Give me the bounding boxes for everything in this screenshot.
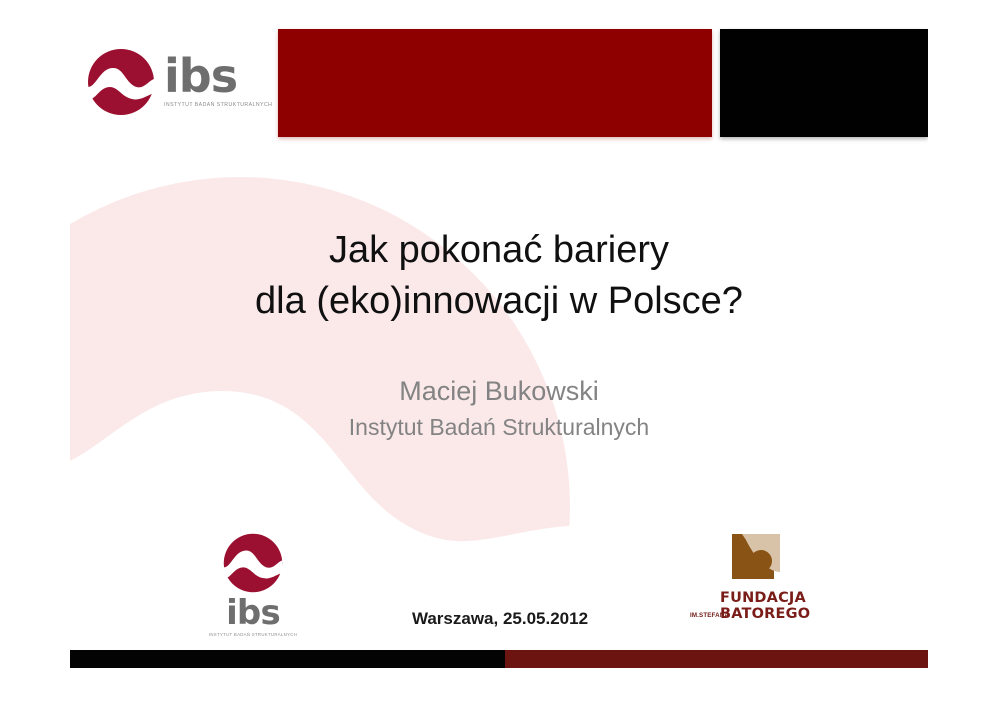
batory-mark-icon (730, 532, 782, 584)
bottom-bar-red-segment (505, 650, 928, 668)
ibs-wordmark-text: ibs (207, 596, 299, 630)
batory-line-2: BATOREGO (720, 606, 810, 622)
bottom-bar (70, 650, 928, 668)
title-line-2: dla (eko)innowacji w Polsce? (70, 276, 928, 327)
batory-text-lockup: IM.STEFANA FUNDACJA BATOREGO (690, 590, 822, 632)
ibs-tagline-text: INSTYTUT BADAŃ STRUKTURALNYCH (164, 102, 276, 109)
ibs-mark-icon (222, 532, 284, 594)
ibs-mark-icon (86, 47, 156, 117)
date-location-text: Warszawa, 25.05.2012 (350, 608, 650, 630)
ibs-tagline-text: INSTYTUT BADAŃ STRUKTURALNYCH (207, 632, 299, 638)
batory-name-text: FUNDACJA BATOREGO (720, 590, 810, 622)
bottom-bar-black-segment (70, 650, 505, 668)
batory-foundation-logo: IM.STEFANA FUNDACJA BATOREGO (690, 532, 822, 644)
ibs-logo-footer: ibs INSTYTUT BADAŃ STRUKTURALNYCH (207, 532, 299, 644)
batory-line-1: FUNDACJA (720, 590, 810, 606)
ibs-wordmark-header: ibs INSTYTUT BADAŃ STRUKTURALNYCH (164, 53, 276, 109)
ibs-wordmark-text: ibs (164, 53, 276, 99)
ibs-wordmark-footer: ibs INSTYTUT BADAŃ STRUKTURALNYCH (207, 596, 299, 638)
subtitle: Maciej Bukowski Instytut Badań Struktura… (70, 372, 928, 444)
header-red-block (278, 29, 712, 137)
header-black-block (720, 29, 928, 137)
presentation-slide: ibs INSTYTUT BADAŃ STRUKTURALNYCH Jak po… (70, 27, 928, 668)
author-name: Maciej Bukowski (70, 372, 928, 410)
page-title: Jak pokonać bariery dla (eko)innowacji w… (70, 225, 928, 327)
title-line-1: Jak pokonać bariery (70, 225, 928, 276)
ibs-logo-header: ibs INSTYTUT BADAŃ STRUKTURALNYCH (86, 41, 276, 127)
author-organization: Instytut Badań Strukturalnych (70, 410, 928, 444)
